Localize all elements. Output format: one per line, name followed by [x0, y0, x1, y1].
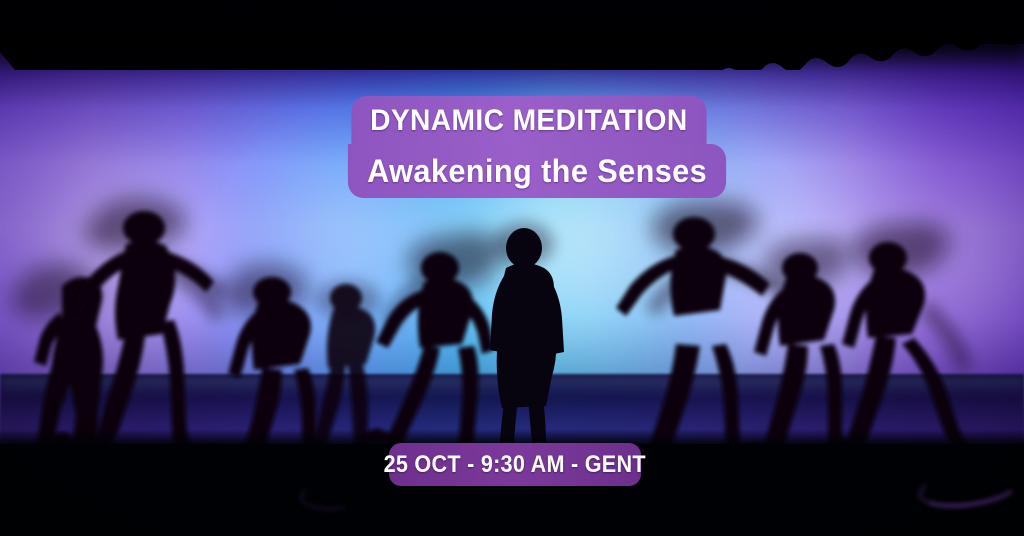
title-line-2-row: Awakening the Senses	[340, 146, 680, 198]
event-title-primary: DYNAMIC MEDITATION	[351, 96, 706, 146]
title-badge: DYNAMIC MEDITATION Awakening the Senses	[340, 96, 680, 198]
event-poster: DYNAMIC MEDITATION Awakening the Senses …	[0, 0, 1024, 536]
curtain-haze	[0, 36, 1024, 70]
title-line-1-row: DYNAMIC MEDITATION	[340, 96, 680, 146]
event-details-badge: 25 OCT - 9:30 AM - GENT	[389, 443, 641, 486]
event-title-secondary: Awakening the Senses	[348, 144, 726, 198]
event-details-text: 25 OCT - 9:30 AM - GENT	[384, 451, 646, 479]
